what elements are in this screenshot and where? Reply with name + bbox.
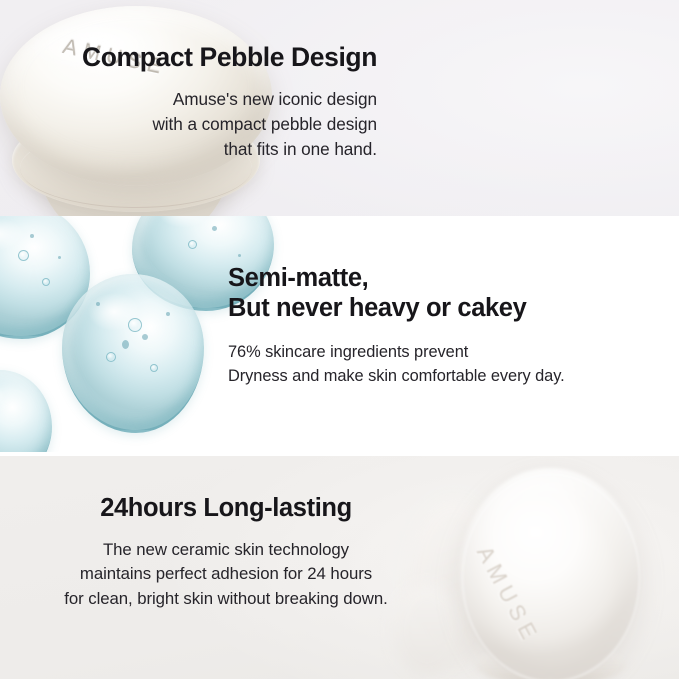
gel-speck: [238, 254, 241, 257]
panel-two-copy-block: Semi-matte, But never heavy or cakey 76%…: [228, 264, 565, 389]
gel-speck: [96, 302, 100, 306]
panel-three-copy-block: 24hours Long-lasting The new ceramic ski…: [0, 494, 452, 611]
gel-bubble: [18, 250, 29, 261]
product-detail-page: AMUSE Compact Pebble Design Amuse's new …: [0, 0, 679, 679]
panel-one-body: Amuse's new iconic design with a compact…: [82, 87, 377, 162]
panel-three-body: The new ceramic skin technology maintain…: [0, 538, 452, 612]
gel-bubble: [128, 318, 142, 332]
section-compact-pebble-design: AMUSE Compact Pebble Design Amuse's new …: [0, 0, 679, 216]
gel-droplet-center: [62, 274, 204, 433]
panel-one-copy-block: Compact Pebble Design Amuse's new iconic…: [82, 42, 377, 162]
gel-bubble: [188, 240, 197, 249]
panel-two-headline: Semi-matte, But never heavy or cakey: [228, 264, 565, 324]
gel-bubble: [42, 278, 50, 286]
section-long-lasting: AMUSE 24hours Long-lasting The new ceram…: [0, 456, 679, 679]
panel-two-body: 76% skincare ingredients prevent Dryness…: [228, 341, 565, 389]
panel-one-headline: Compact Pebble Design: [82, 42, 377, 73]
gel-speck: [142, 334, 148, 340]
panel-three-headline: 24hours Long-lasting: [0, 494, 452, 524]
gel-speck: [122, 340, 129, 349]
section-semi-matte: Semi-matte, But never heavy or cakey 76%…: [0, 216, 679, 452]
gel-droplet-bottom-left: [0, 370, 52, 452]
gel-speck: [30, 234, 34, 238]
gel-bubble: [106, 352, 116, 362]
gel-speck: [166, 312, 170, 316]
gel-bubble: [150, 364, 158, 372]
gel-speck: [212, 226, 217, 231]
gel-speck: [58, 256, 61, 259]
